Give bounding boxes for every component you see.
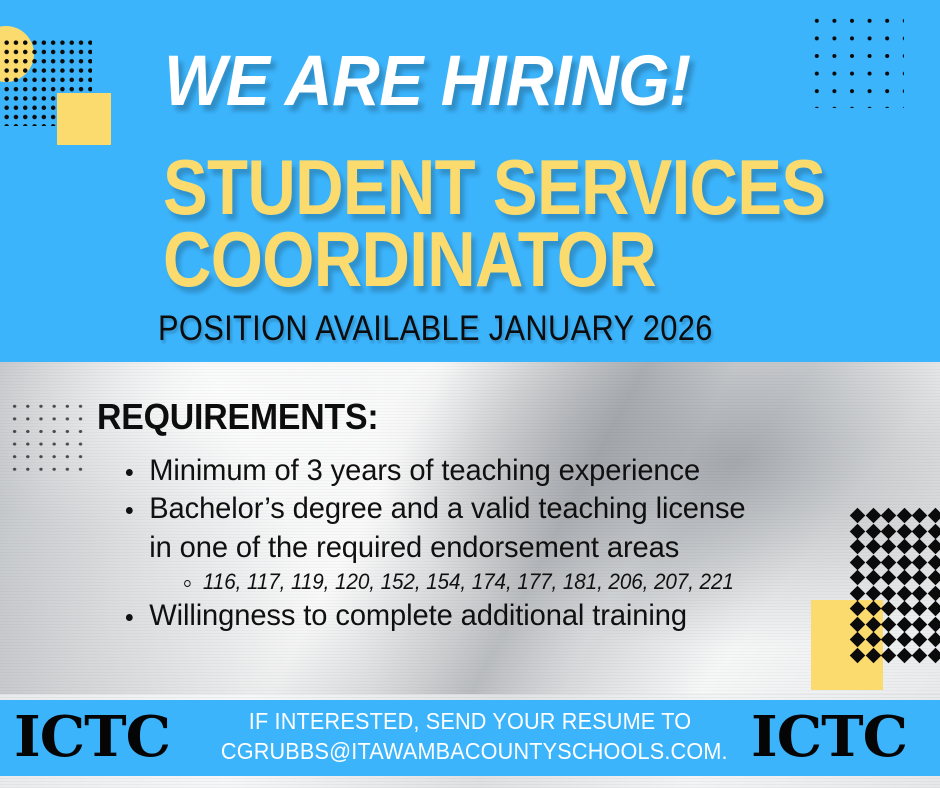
contact-block: IF INTERESTED, SEND YOUR RESUME TO CGRUB… (221, 706, 719, 767)
logo-ictc-left: ICTC (14, 704, 170, 770)
headline: WE ARE HIRING! (164, 48, 691, 117)
header-banner: WE ARE HIRING! STUDENT SERVICES COORDINA… (0, 0, 940, 362)
yellow-square-decoration-icon (57, 93, 111, 145)
endorsement-codes-label: 116, 117, 119, 120, 152, 154, 174, 177, … (203, 569, 734, 594)
list-item: Willingness to complete additional train… (124, 597, 861, 635)
list-item-label: Minimum of 3 years of teaching experienc… (149, 454, 700, 487)
requirements-heading: REQUIREMENTS: (97, 396, 378, 438)
logo-ictc-right: ICTC (751, 704, 907, 770)
job-title: STUDENT SERVICES COORDINATOR (163, 152, 825, 296)
availability-text: POSITION AVAILABLE JANUARY 2026 (158, 309, 713, 349)
hiring-flyer: WE ARE HIRING! STUDENT SERVICES COORDINA… (0, 0, 940, 788)
sub-list-item: 116, 117, 119, 120, 152, 154, 174, 177, … (182, 568, 841, 597)
bullet-icon (126, 507, 133, 514)
bullet-icon (126, 469, 133, 476)
list-item-label: Willingness to complete additional train… (149, 599, 687, 632)
list-item: Bachelor’s degree and a valid teaching l… (124, 490, 861, 596)
contact-instruction: IF INTERESTED, SEND YOUR RESUME TO (221, 706, 719, 736)
requirements-list: Minimum of 3 years of teaching experienc… (124, 452, 884, 635)
job-title-line-1: STUDENT SERVICES (163, 152, 825, 224)
job-title-line-2: COORDINATOR (163, 224, 825, 296)
dot-grid-decoration-left-icon (8, 400, 86, 472)
list-item: Minimum of 3 years of teaching experienc… (124, 452, 861, 490)
list-item-continuation: in one of the required endorsement areas (149, 529, 861, 567)
contact-email[interactable]: CGRUBBS@ITAWAMBACOUNTYSCHOOLS.COM. (221, 736, 719, 766)
bullet-icon (126, 614, 133, 621)
list-item-label: Bachelor’s degree and a valid teaching l… (149, 492, 745, 525)
dot-grid-decoration-right-icon (808, 12, 904, 108)
endorsement-sub-list: 116, 117, 119, 120, 152, 154, 174, 177, … (182, 568, 861, 597)
hollow-bullet-icon (184, 580, 191, 587)
